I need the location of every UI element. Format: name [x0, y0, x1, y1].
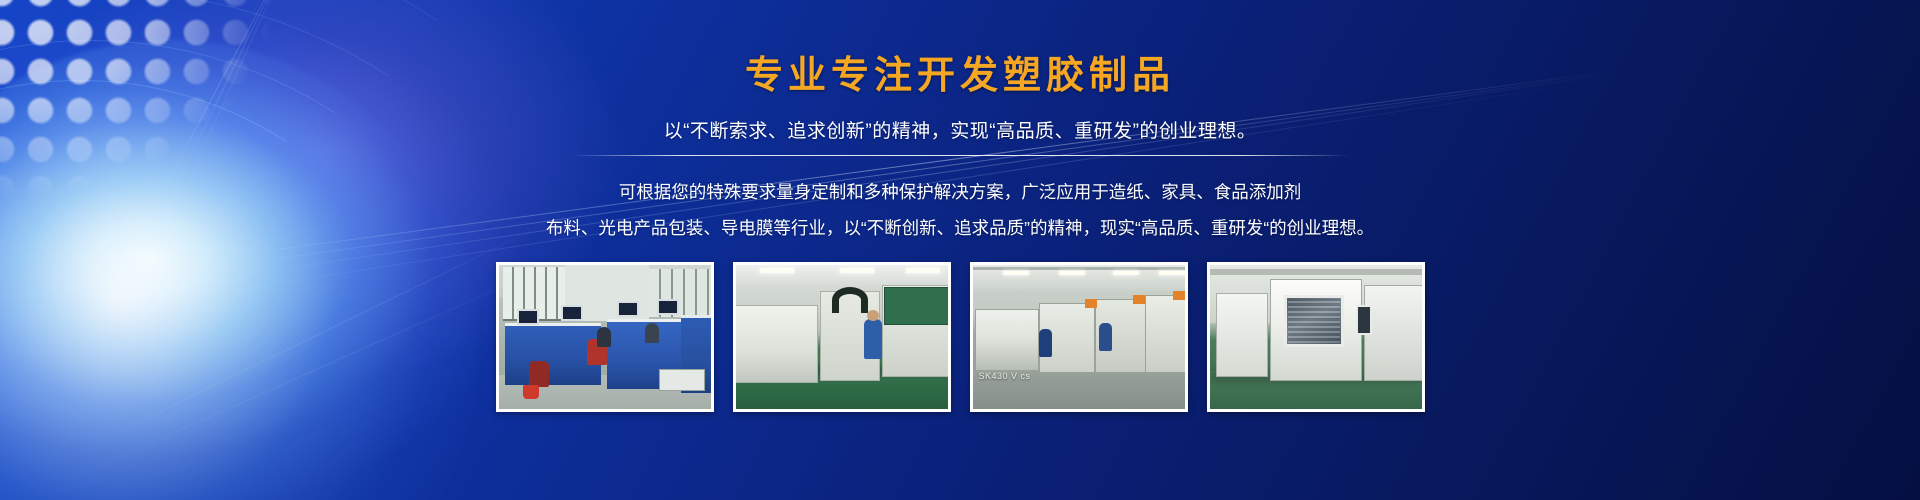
photo-image — [1210, 265, 1422, 409]
monitor — [517, 309, 539, 325]
control-panel — [659, 369, 705, 391]
machine — [1145, 295, 1188, 373]
ceiling-lamp — [1159, 271, 1185, 275]
machine — [733, 305, 818, 383]
worker — [645, 323, 659, 343]
ceiling-beam — [973, 267, 1185, 270]
ceiling-lamp — [1003, 271, 1029, 275]
worker — [597, 327, 611, 347]
machine-grill — [1288, 299, 1340, 343]
machine-indicator — [1085, 299, 1097, 308]
worker — [1039, 329, 1052, 357]
banner-content: 专业专注开发塑胶制品 以“不断索求、追求创新”的精神，实现“高品质、重研发”的创… — [0, 0, 1920, 500]
worker — [1099, 323, 1112, 351]
machine-cover — [884, 287, 950, 325]
banner-description: 可根据您的特殊要求量身定制和多种保护解决方案，广泛应用于造纸、家具、食品添加剂 … — [546, 174, 1374, 246]
photo-strip: SK430 V cs — [496, 262, 1425, 412]
promo-banner: 专业专注开发塑胶制品 以“不断索求、追求创新”的精神，实现“高品质、重研发”的创… — [0, 0, 1920, 500]
ceiling-duct — [1210, 269, 1422, 275]
machine — [1216, 293, 1268, 377]
banner-subline: 以“不断索求、追求创新”的精神，实现“高品质、重研发”的创业理想。 — [664, 116, 1257, 143]
photo-image — [736, 265, 948, 409]
machine-indicator — [1133, 295, 1145, 304]
photo-office-workstations[interactable] — [496, 262, 714, 412]
photo-production-line[interactable]: SK430 V cs — [970, 262, 1188, 412]
ceiling-lamp — [906, 268, 940, 273]
machine-indicator — [1173, 291, 1185, 300]
horizontal-divider — [570, 155, 1350, 156]
description-line-2: 布料、光电产品包装、导电膜等行业，以“不断创新、追求品质”的精神，现实“高品质、… — [546, 210, 1374, 246]
chair — [529, 361, 549, 387]
machine — [975, 309, 1039, 371]
ceiling-lamp — [840, 268, 874, 273]
photo-cnc-milling-center[interactable] — [1207, 262, 1425, 412]
photo-image — [499, 265, 711, 409]
photo-cnc-machine-room[interactable] — [733, 262, 951, 412]
monitor — [657, 299, 679, 315]
worker — [864, 319, 882, 359]
bucket — [523, 385, 539, 399]
ceiling-lamp — [1059, 271, 1085, 275]
monitor — [561, 305, 583, 321]
photo-image: SK430 V cs — [973, 265, 1185, 409]
ceiling-lamp — [760, 268, 794, 273]
machine-label: SK430 V cs — [979, 371, 1031, 381]
ceiling-lamp — [1113, 271, 1139, 275]
control-panel — [1356, 305, 1372, 335]
monitor — [617, 301, 639, 317]
description-line-1: 可根据您的特殊要求量身定制和多种保护解决方案，广泛应用于造纸、家具、食品添加剂 — [546, 174, 1374, 210]
banner-headline: 专业专注开发塑胶制品 — [745, 44, 1175, 99]
machine — [1364, 285, 1425, 381]
machine-arm — [832, 287, 868, 313]
